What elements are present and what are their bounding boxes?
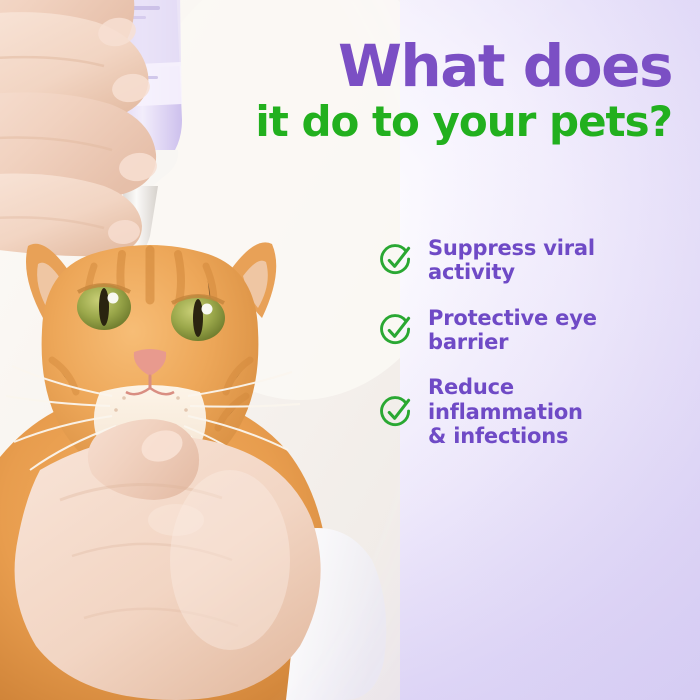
benefit-text: Reduce inflammation & infections [428,375,583,448]
benefit-item: Suppress viral activity [378,236,678,285]
headline: What does it do to your pets? [255,38,672,143]
benefit-item: Reduce inflammation & infections [378,375,678,448]
benefits-list: Suppress viral activity Protective eye b… [378,236,678,449]
headline-line-2: it do to your pets? [255,101,672,143]
benefit-line: Reduce [428,375,583,399]
benefit-line: & infections [428,424,583,448]
benefit-line: activity [428,260,595,284]
benefit-line: Protective eye [428,306,597,330]
cat-eye-right [171,295,225,341]
benefit-line: inflammation [428,400,583,424]
benefit-line: Suppress viral [428,236,595,260]
check-circle-icon [378,394,414,430]
cat-eye-left [77,284,131,330]
check-circle-icon [378,312,414,348]
benefit-line: barrier [428,330,597,354]
benefit-text: Suppress viral activity [428,236,595,285]
promo-poster: What does it do to your pets? Suppress v… [0,0,700,700]
benefit-text: Protective eye barrier [428,306,597,355]
benefit-item: Protective eye barrier [378,306,678,355]
headline-line-1: What does [255,38,672,95]
check-circle-icon [378,242,414,278]
